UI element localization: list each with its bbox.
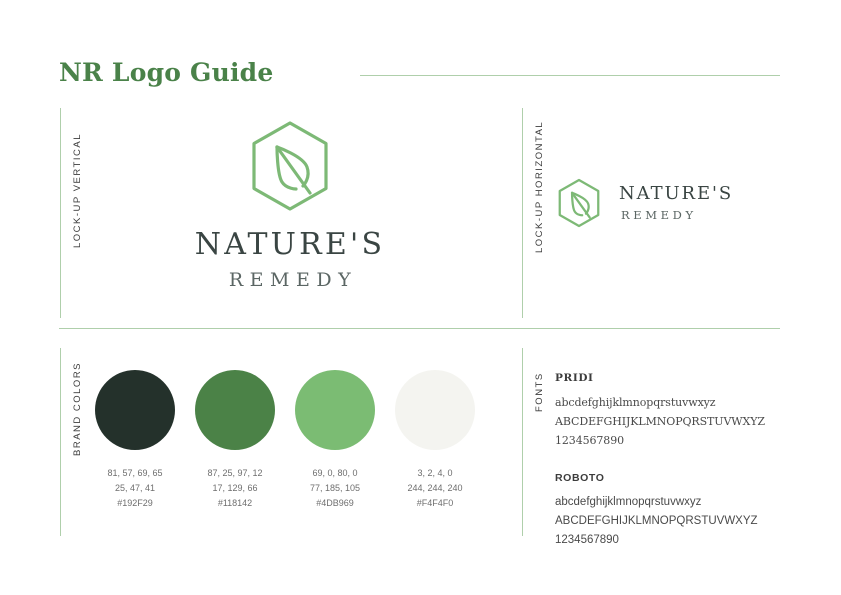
swatch-rgb: 25, 47, 41 xyxy=(85,481,185,496)
brand-guide-page: NR Logo Guide LOCK-UP VERTICAL NATURE'S … xyxy=(0,0,841,595)
nature-remedy-mark-icon xyxy=(247,120,333,212)
wordmark-secondary: REMEDY xyxy=(176,271,404,290)
swatch-values: 3, 2, 4, 0 244, 244, 240 #F4F4F0 xyxy=(385,466,485,511)
font-specimen-lowercase: abcdefghijklmnopqrstuvwxyz xyxy=(555,393,815,412)
swatch-rgb: 244, 244, 240 xyxy=(385,481,485,496)
title-divider-rule xyxy=(360,75,780,76)
wordmark-secondary-small: REMEDY xyxy=(619,210,733,222)
color-swatch-dark-forest xyxy=(95,370,175,450)
section-rule-lockup-vertical xyxy=(60,108,61,318)
swatch-hex: #118142 xyxy=(185,496,285,511)
swatch-rgb: 77, 185, 105 xyxy=(285,481,385,496)
logo-lockup-horizontal: NATURE'S REMEDY xyxy=(556,178,733,228)
swatch-item: 3, 2, 4, 0 244, 244, 240 #F4F4F0 xyxy=(385,370,485,511)
section-label-fonts: FONTS xyxy=(534,372,545,412)
color-swatch-light-green xyxy=(295,370,375,450)
logo-lockup-vertical: NATURE'S REMEDY xyxy=(176,120,404,290)
font-group-pridi: PRIDI abcdefghijklmnopqrstuvwxyz ABCDEFG… xyxy=(555,372,815,450)
section-rule-fonts xyxy=(522,348,523,536)
color-swatch-green xyxy=(195,370,275,450)
font-specimen-uppercase: ABCDEFGHIJKLMNOPQRSTUVWXYZ xyxy=(555,512,815,531)
nature-remedy-mark-icon-small xyxy=(556,178,602,228)
swatch-rgb: 17, 129, 66 xyxy=(185,481,285,496)
section-label-lockup-horizontal: LOCK-UP HORIZONTAL xyxy=(534,121,545,253)
swatch-cmyk: 69, 0, 80, 0 xyxy=(285,466,385,481)
section-label-brand-colors: BRAND COLORS xyxy=(72,362,83,456)
font-specimen-uppercase: ABCDEFGHIJKLMNOPQRSTUVWXYZ xyxy=(555,412,815,431)
swatch-values: 81, 57, 69, 65 25, 47, 41 #192F29 xyxy=(85,466,185,511)
section-label-lockup-vertical: LOCK-UP VERTICAL xyxy=(72,133,83,248)
section-rule-lockup-horizontal xyxy=(522,108,523,318)
font-specimen-list: PRIDI abcdefghijklmnopqrstuvwxyz ABCDEFG… xyxy=(555,372,815,550)
swatch-hex: #4DB969 xyxy=(285,496,385,511)
font-specimen-lowercase: abcdefghijklmnopqrstuvwxyz xyxy=(555,493,815,512)
brand-color-swatch-list: 81, 57, 69, 65 25, 47, 41 #192F29 87, 25… xyxy=(85,370,485,511)
font-specimen-numerals: 1234567890 xyxy=(555,531,815,550)
font-family-name: ROBOTO xyxy=(555,472,815,484)
swatch-values: 69, 0, 80, 0 77, 185, 105 #4DB969 xyxy=(285,466,385,511)
swatch-cmyk: 81, 57, 69, 65 xyxy=(85,466,185,481)
swatch-hex: #F4F4F0 xyxy=(385,496,485,511)
swatch-values: 87, 25, 97, 12 17, 129, 66 #118142 xyxy=(185,466,285,511)
color-swatch-off-white xyxy=(395,370,475,450)
page-title: NR Logo Guide xyxy=(59,58,273,87)
swatch-cmyk: 87, 25, 97, 12 xyxy=(185,466,285,481)
font-group-roboto: ROBOTO abcdefghijklmnopqrstuvwxyz ABCDEF… xyxy=(555,472,815,550)
wordmark-primary-small: NATURE'S xyxy=(619,185,733,203)
swatch-item: 87, 25, 97, 12 17, 129, 66 #118142 xyxy=(185,370,285,511)
swatch-item: 81, 57, 69, 65 25, 47, 41 #192F29 xyxy=(85,370,185,511)
wordmark-primary: NATURE'S xyxy=(176,230,404,260)
section-divider-rule xyxy=(59,328,780,329)
swatch-item: 69, 0, 80, 0 77, 185, 105 #4DB969 xyxy=(285,370,385,511)
section-rule-brand-colors xyxy=(60,348,61,536)
swatch-hex: #192F29 xyxy=(85,496,185,511)
swatch-cmyk: 3, 2, 4, 0 xyxy=(385,466,485,481)
font-specimen-numerals: 1234567890 xyxy=(555,431,815,450)
font-family-name: PRIDI xyxy=(555,372,815,384)
